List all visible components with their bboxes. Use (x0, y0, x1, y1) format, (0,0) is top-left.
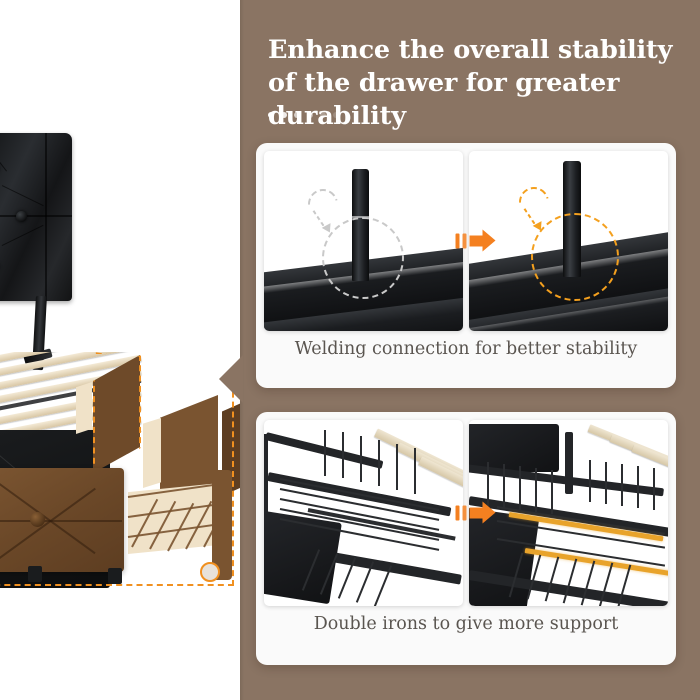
basket-photo-after (469, 420, 668, 606)
panel-edge (240, 0, 244, 700)
arrow-bar-1 (456, 506, 460, 521)
infographic-canvas: Enhance the overall stability of the dra… (0, 0, 700, 700)
progress-dot-6 (333, 112, 339, 118)
progress-dot-2 (281, 112, 287, 118)
drawer-caster-2 (108, 568, 122, 584)
product-photo (0, 0, 245, 700)
page-title: Enhance the overall stability of the dra… (268, 34, 688, 133)
arrow-bar-2 (463, 234, 467, 249)
feature-card-double-irons: Double irons to give more support (256, 412, 676, 665)
arrow-right-icon (456, 506, 483, 521)
arrow-bar-2 (463, 506, 467, 521)
drawer-caster (28, 566, 42, 582)
basket-photo-before (264, 420, 463, 606)
panel-pointer (219, 355, 243, 403)
arrow-bar-1 (456, 234, 460, 249)
callout-hook-icon (303, 184, 344, 225)
progress-dots (268, 112, 339, 118)
tufted-headboard (0, 133, 72, 301)
feature-card-welding: Welding connection for better stability (256, 143, 676, 388)
progress-dot-4 (307, 112, 313, 118)
comparison-pair-braces (264, 420, 668, 606)
weld-photo-after (469, 151, 668, 331)
progress-dot-3 (294, 112, 300, 118)
card-caption-welding: Welding connection for better stability (256, 339, 676, 359)
card-caption-double-irons: Double irons to give more support (256, 614, 676, 634)
weld-photo-before (264, 151, 463, 331)
drawer-wheel (200, 562, 220, 582)
comparison-pair-welding (264, 151, 668, 331)
progress-dot-1 (268, 112, 274, 118)
arrow-head (470, 236, 483, 247)
progress-dot-5 (320, 112, 326, 118)
arrow-head (470, 508, 483, 519)
arrow-right-icon (456, 234, 483, 249)
callout-hook-icon (514, 182, 555, 223)
